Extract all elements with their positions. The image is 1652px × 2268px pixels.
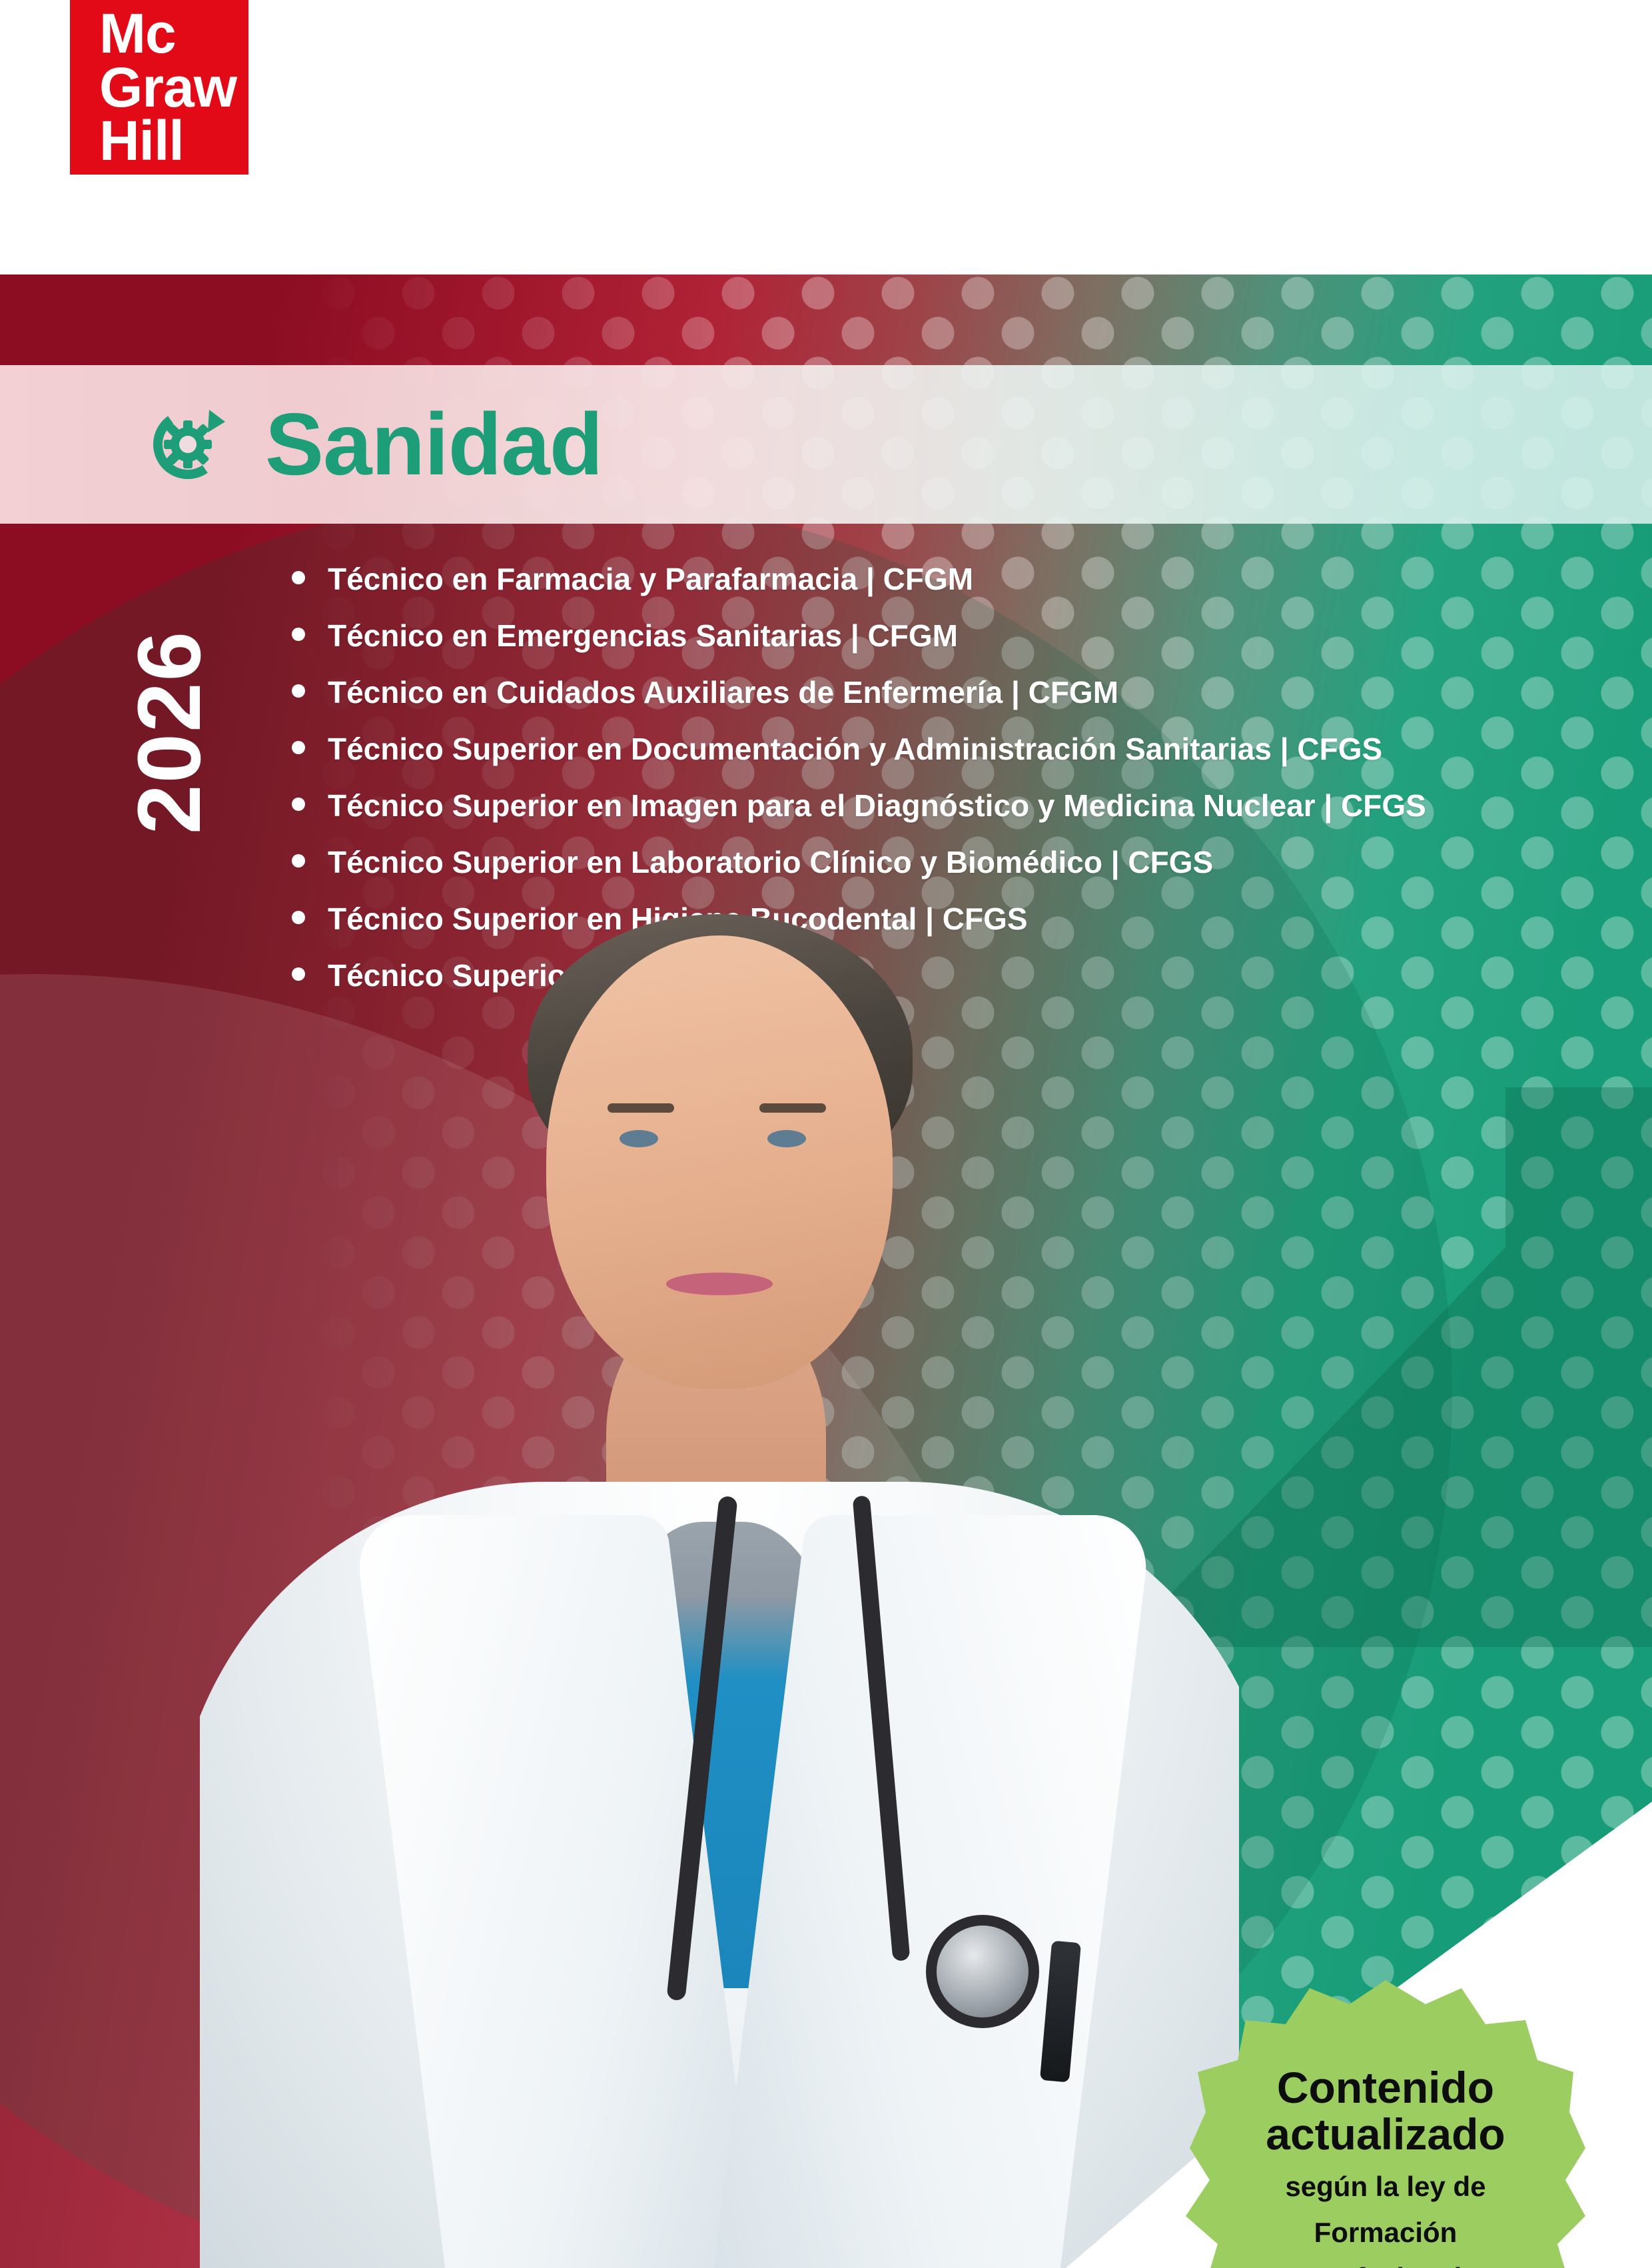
- photo-brow-left: [608, 1103, 674, 1113]
- badge-line-3: según la ley de: [1285, 2170, 1485, 2203]
- badge-line-5: Profesional: [1310, 2261, 1462, 2268]
- course-label: Técnico en Emergencias Sanitarias | CFGM: [328, 618, 958, 654]
- logo-line-2: Graw: [99, 61, 236, 115]
- list-item: Técnico Superior en Laboratorio Clínico …: [292, 844, 1557, 880]
- badge-line-1: Contenido: [1277, 2065, 1494, 2111]
- cover-artwork: Sanidad 2026 Técnico en Farmacia y Paraf…: [0, 275, 1652, 2268]
- photo-brow-right: [759, 1103, 826, 1113]
- bullet-icon: [292, 571, 305, 584]
- course-label: Técnico Superior en Documentación y Admi…: [328, 731, 1382, 767]
- bullet-icon: [292, 684, 305, 698]
- badge-line-2: actualizado: [1266, 2111, 1505, 2158]
- course-label: Técnico Superior en Imagen para el Diagn…: [328, 788, 1426, 824]
- photo-face: [546, 935, 893, 1389]
- bullet-icon: [292, 741, 305, 754]
- gear-refresh-icon: [141, 394, 234, 494]
- badge-line-4: Formación: [1314, 2216, 1457, 2249]
- photo-eye-right: [767, 1130, 806, 1147]
- status-badge: Contenido actualizado según la ley de Fo…: [1186, 1980, 1585, 2268]
- cover-year: 2026: [119, 621, 220, 834]
- list-item: Técnico en Cuidados Auxiliares de Enferm…: [292, 674, 1557, 710]
- list-item: Técnico Superior en Documentación y Admi…: [292, 731, 1557, 767]
- logo-line-1: Mc: [99, 7, 176, 61]
- bullet-icon: [292, 854, 305, 867]
- course-label: Técnico en Farmacia y Parafarmacia | CFG…: [328, 561, 973, 597]
- course-label: Técnico Superior en Laboratorio Clínico …: [328, 844, 1213, 880]
- healthcare-professional-photo: [200, 895, 1239, 2268]
- logo-line-3: Hill: [99, 114, 184, 168]
- photo-mouth: [666, 1273, 773, 1295]
- list-item: Técnico Superior en Imagen para el Diagn…: [292, 788, 1557, 824]
- bullet-icon: [292, 628, 305, 641]
- course-label: Técnico en Cuidados Auxiliares de Enferm…: [328, 674, 1118, 710]
- bullet-icon: [292, 798, 305, 811]
- list-item: Técnico en Emergencias Sanitarias | CFGM: [292, 618, 1557, 654]
- title-band: Sanidad: [0, 365, 1652, 524]
- page-title: Sanidad: [265, 400, 602, 488]
- photo-eye-left: [619, 1130, 658, 1147]
- mcgraw-hill-logo: Mc Graw Hill: [70, 0, 248, 175]
- stethoscope-chestpiece: [926, 1915, 1039, 2028]
- list-item: Técnico en Farmacia y Parafarmacia | CFG…: [292, 561, 1557, 597]
